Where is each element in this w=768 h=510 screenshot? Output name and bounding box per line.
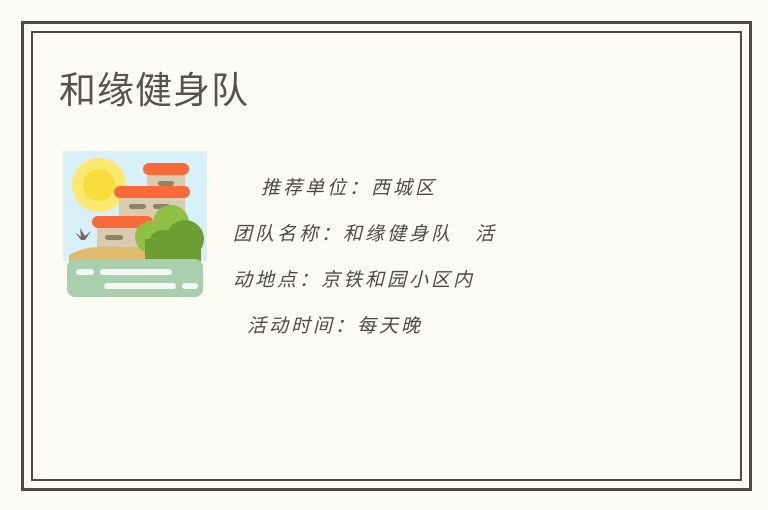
inner-frame: 和缘健身队 <box>31 31 742 481</box>
page-title: 和缘健身队 <box>59 67 249 115</box>
detail-text-block: 推荐单位：西城区 团队名称：和缘健身队 活 动地点：京铁和园小区内 活动时间：每… <box>233 165 722 349</box>
detail-line-activity-location: 动地点：京铁和园小区内 <box>233 257 722 303</box>
outer-frame: 和缘健身队 <box>21 21 752 491</box>
detail-line-recommending-unit: 推荐单位：西城区 <box>233 165 722 211</box>
detail-line-team-name: 团队名称：和缘健身队 活 <box>233 211 722 257</box>
detail-line-activity-time: 活动时间：每天晚 <box>233 303 722 349</box>
article-content: 和缘健身队 <box>33 33 740 479</box>
landscape-village-illustration <box>59 147 211 299</box>
